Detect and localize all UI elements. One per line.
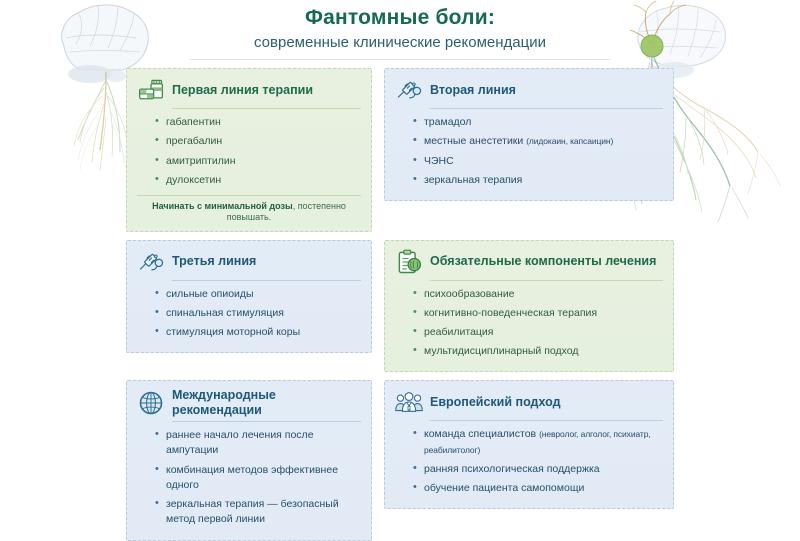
list-item-text: раннее начало лечения после ампутации <box>166 429 314 456</box>
card-title-divider <box>172 108 361 109</box>
syringe-icon <box>137 248 165 276</box>
page-subtitle: современные клинические рекомендации <box>0 34 800 52</box>
card-title: Вторая линия <box>430 83 516 97</box>
card-title: Обязательные компоненты лечения <box>430 254 656 268</box>
pill-bottle-icon <box>137 76 165 104</box>
card-title: Международные рекомендации <box>172 388 361 417</box>
card-title-divider <box>172 280 361 281</box>
list-item: обучение пациента самопомощи <box>413 481 663 500</box>
list-item-text: дулоксетин <box>166 174 221 186</box>
list-item-text: амитриптилин <box>166 155 236 167</box>
list-item: дулоксетин <box>155 173 361 192</box>
card-item-list: команда специалистов (невролог, алголог,… <box>395 427 663 500</box>
list-item: зеркальная терапия — безопасный метод пе… <box>155 497 361 531</box>
list-item-text: местные анестетики <box>424 135 526 147</box>
list-item: мультидисциплинарный подход <box>413 344 663 363</box>
list-item-text: спинальная стимуляция <box>166 307 284 319</box>
card-title: Европейский подход <box>430 395 561 409</box>
card-item-list: психообразование когнитивно-поведенческа… <box>395 287 663 364</box>
card-header: Обязательные компоненты лечения <box>395 248 663 280</box>
card-title-divider <box>172 421 361 422</box>
card-title: Первая линия терапии <box>172 83 313 97</box>
list-item-text: зеркальная терапия — безопасный метод пе… <box>166 498 339 525</box>
globe-icon <box>137 389 165 417</box>
recommendations-grid: Первая линия терапии габапентин прегабал… <box>126 68 674 540</box>
list-item: габапентин <box>155 115 361 134</box>
page-header: Фантомные боли: современные клинические … <box>0 0 800 60</box>
list-item: психообразование <box>413 287 663 306</box>
card-item-list: раннее начало лечения после ампутации ко… <box>137 428 361 531</box>
card-title: Третья линия <box>172 254 256 268</box>
list-item-text: трамадол <box>424 116 471 128</box>
card-item-list: трамадол местные анестетики (лидокаин, к… <box>395 115 663 192</box>
list-item-subtext: (лидокаин, капсаицин) <box>526 136 613 146</box>
list-item: прегабалин <box>155 134 361 153</box>
list-item: реабилитация <box>413 325 663 344</box>
list-item: стимуляция моторной коры <box>155 325 361 344</box>
card-header: Европейский подход <box>395 388 663 420</box>
card-title-divider <box>430 108 663 109</box>
list-item: комбинация методов эффективнее одного <box>155 463 361 497</box>
card-footer-note: Начинать с минимальной дозы, постепенно … <box>137 195 361 223</box>
list-item-text: стимуляция моторной коры <box>166 326 300 338</box>
card-footer-strong: Начинать с минимальной дозы <box>152 201 293 211</box>
card-second-line[interactable]: Вторая линия трамадол местные анестетики… <box>384 68 674 201</box>
list-item: сильные опиоиды <box>155 287 361 306</box>
syringe-icon <box>395 76 423 104</box>
page-title: Фантомные боли: <box>0 6 800 30</box>
list-item: ЧЭНС <box>413 154 663 173</box>
list-item-text: ЧЭНС <box>424 155 454 167</box>
card-header: Первая линия терапии <box>137 76 361 108</box>
card-item-list: габапентин прегабалин амитриптилин дулок… <box>137 115 361 192</box>
card-first-line-therapy[interactable]: Первая линия терапии габапентин прегабал… <box>126 68 372 231</box>
list-item: ранняя психологическая поддержка <box>413 462 663 481</box>
list-item: раннее начало лечения после ампутации <box>155 428 361 462</box>
list-item-text: когнитивно-поведенческая терапия <box>424 307 597 319</box>
card-header: Третья линия <box>137 248 361 280</box>
list-item: местные анестетики (лидокаин, капсаицин) <box>413 134 663 153</box>
medical-team-icon <box>395 388 423 416</box>
header-divider <box>190 59 610 60</box>
list-item-text: мультидисциплинарный подход <box>424 345 579 357</box>
card-third-line[interactable]: Третья линия сильные опиоиды спинальная … <box>126 240 372 354</box>
card-item-list: сильные опиоиды спинальная стимуляция ст… <box>137 287 361 345</box>
card-title-divider <box>430 280 663 281</box>
list-item-text: команда специалистов <box>424 428 539 440</box>
list-item-text: зеркальная терапия <box>424 174 522 186</box>
list-item: амитриптилин <box>155 154 361 173</box>
card-international-recommendations[interactable]: Международные рекомендации раннее начало… <box>126 380 372 540</box>
list-item: команда специалистов (невролог, алголог,… <box>413 427 663 461</box>
list-item-text: сильные опиоиды <box>166 288 254 300</box>
list-item-text: прегабалин <box>166 135 222 147</box>
list-item-text: психообразование <box>424 288 515 300</box>
list-item: когнитивно-поведенческая терапия <box>413 306 663 325</box>
list-item: зеркальная терапия <box>413 173 663 192</box>
card-title-divider <box>430 420 663 421</box>
card-mandatory-components[interactable]: Обязательные компоненты лечения психообр… <box>384 240 674 373</box>
card-header: Вторая линия <box>395 76 663 108</box>
list-item-text: реабилитация <box>424 326 494 338</box>
list-item-text: габапентин <box>166 116 221 128</box>
list-item-text: обучение пациента самопомощи <box>424 482 584 494</box>
list-item: трамадол <box>413 115 663 134</box>
clipboard-brain-icon <box>395 248 423 276</box>
list-item-text: ранняя психологическая поддержка <box>424 463 600 475</box>
card-header: Международные рекомендации <box>137 388 361 421</box>
list-item-text: комбинация методов эффективнее одного <box>166 464 338 491</box>
list-item: спинальная стимуляция <box>155 306 361 325</box>
